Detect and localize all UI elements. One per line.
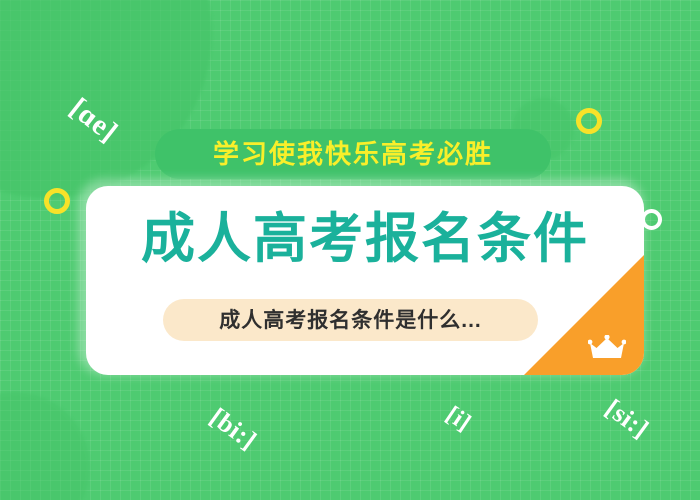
crown-icon: [588, 335, 626, 361]
decorative-ring-yellow-top: [576, 108, 602, 134]
page-title: 成人高考报名条件: [86, 212, 644, 266]
corner-accent-wedge: [524, 255, 644, 375]
main-card: 成人高考报名条件 成人高考报名条件是什么...: [86, 186, 644, 375]
slogan-banner-text: 学习使我快乐高考必胜: [213, 141, 493, 167]
decorative-ring-white-right: [641, 209, 662, 230]
poster-canvas: [ɑe] [bi:] [i] [si:] 学习使我快乐高考必胜 成人高考报名条件…: [0, 0, 700, 500]
subtitle-pill: 成人高考报名条件是什么...: [163, 299, 538, 341]
decorative-ring-yellow-left: [44, 188, 70, 214]
subtitle-text: 成人高考报名条件是什么...: [219, 310, 482, 331]
slogan-banner: 学习使我快乐高考必胜: [155, 129, 551, 179]
